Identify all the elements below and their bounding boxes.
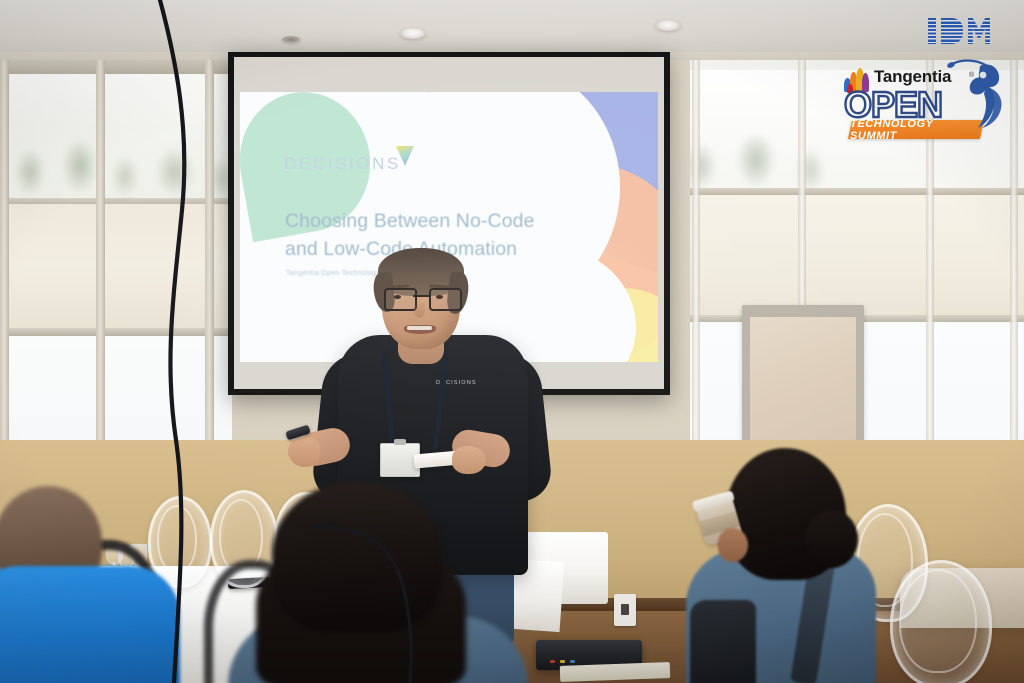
downlight-icon <box>400 28 426 39</box>
attendee-torso <box>0 566 180 683</box>
golfer-icon <box>946 58 1008 130</box>
window-mullion <box>0 328 232 336</box>
slide-title-line-1: Choosing Between No-Code <box>285 208 575 236</box>
window-roller-shade <box>690 195 1024 315</box>
attendee-head <box>272 482 442 632</box>
tangentia-open-logo: Tangentia ® OPEN TECHNOLOGY SUMMIT <box>838 62 998 144</box>
attendee-hair-bun <box>806 510 858 568</box>
presenter-nose <box>414 300 425 318</box>
slide-brand-logo: DECISIONS <box>284 154 401 174</box>
presenter-teeth <box>407 326 432 330</box>
presenter-hand-left <box>288 437 320 467</box>
badge-clip <box>394 439 406 445</box>
downlight-icon <box>655 20 681 31</box>
window-glass-upper <box>0 74 232 204</box>
presenter-hand-right <box>452 446 486 474</box>
ibm-logo-icon <box>928 18 990 44</box>
side-table-right <box>900 568 1024 628</box>
window-header <box>0 60 232 74</box>
conference-photo-scene: DECISIONS Choosing Between No-Code and L… <box>0 0 1024 683</box>
wall-outlet <box>614 594 636 626</box>
window-mullion <box>690 188 1024 195</box>
trees-outside <box>0 132 232 204</box>
backpack <box>690 600 756 683</box>
attendee-hand <box>718 528 748 562</box>
window-roller-shade <box>0 204 232 328</box>
downlight-icon <box>282 36 300 43</box>
presenter-eye <box>436 295 443 299</box>
presenter-eye <box>394 295 401 299</box>
